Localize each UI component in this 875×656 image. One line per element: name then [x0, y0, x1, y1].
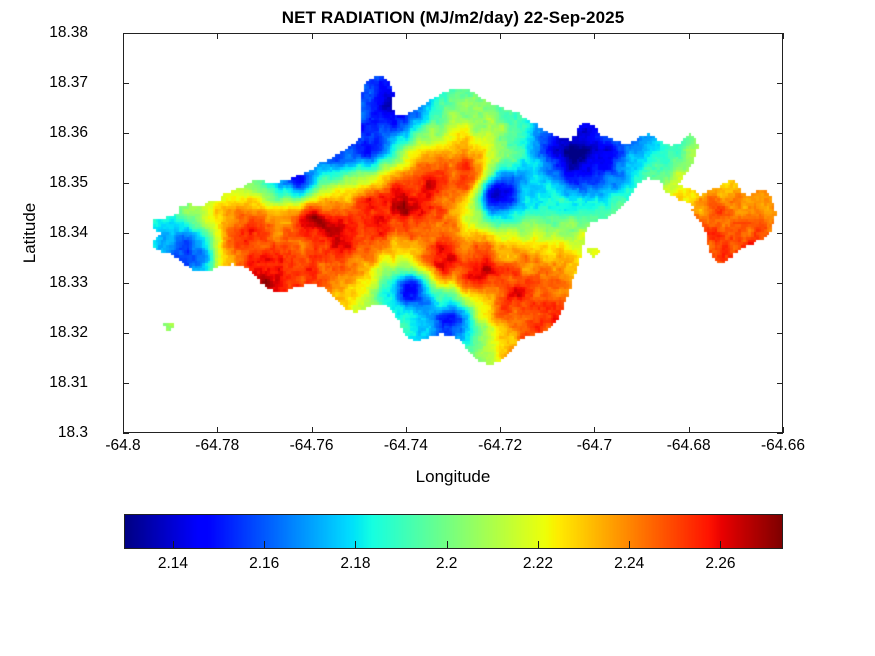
- y-tick-label: 18.36: [49, 124, 88, 142]
- y-tick: [777, 133, 783, 134]
- x-tick: [217, 427, 218, 433]
- x-tick: [406, 427, 407, 433]
- y-tick: [123, 433, 129, 434]
- x-tick: [312, 33, 313, 39]
- x-tick: [689, 427, 690, 433]
- y-tick-label: 18.31: [49, 374, 88, 392]
- x-tick: [594, 33, 595, 39]
- x-axis-title: Longitude: [123, 467, 783, 487]
- y-tick: [123, 233, 129, 234]
- x-tick: [500, 33, 501, 39]
- colorbar-tick-label: 2.24: [614, 555, 644, 573]
- figure-net-radiation-map: NET RADIATION (MJ/m2/day) 22-Sep-2025 -6…: [0, 0, 875, 656]
- x-tick-label: -64.66: [761, 437, 805, 455]
- y-tick: [123, 333, 129, 334]
- y-tick: [123, 133, 129, 134]
- x-tick-label: -64.72: [478, 437, 522, 455]
- y-tick: [123, 83, 129, 84]
- map-axes: [123, 33, 783, 433]
- y-tick: [777, 283, 783, 284]
- x-tick: [217, 33, 218, 39]
- colorbar-tick-label: 2.2: [436, 555, 458, 573]
- colorbar-tick-label: 2.22: [523, 555, 553, 573]
- y-tick: [777, 33, 783, 34]
- y-axis-title: Latitude: [20, 203, 40, 264]
- y-axis-title-wrap: Latitude: [30, 0, 31, 466]
- x-tick: [406, 33, 407, 39]
- colorbar-tick-label: 2.14: [158, 555, 188, 573]
- x-tick: [783, 33, 784, 39]
- x-tick-label: -64.8: [105, 437, 140, 455]
- y-tick-label: 18.38: [49, 24, 88, 42]
- y-tick-label: 18.32: [49, 324, 88, 342]
- x-tick: [312, 427, 313, 433]
- colorbar-gradient: [125, 515, 782, 548]
- colorbar-tick-label: 2.26: [705, 555, 735, 573]
- colorbar-tick-label: 2.16: [249, 555, 279, 573]
- y-tick: [123, 33, 129, 34]
- y-tick: [777, 333, 783, 334]
- y-tick-label: 18.33: [49, 274, 88, 292]
- y-tick-label: 18.35: [49, 174, 88, 192]
- y-tick-label: 18.3: [58, 424, 88, 442]
- x-tick: [500, 427, 501, 433]
- colorbar-tick: [355, 541, 356, 548]
- y-tick-label: 18.34: [49, 224, 88, 242]
- x-tick-label: -64.76: [290, 437, 334, 455]
- y-tick: [777, 433, 783, 434]
- colorbar-tick: [720, 541, 721, 548]
- x-tick-label: -64.78: [195, 437, 239, 455]
- heatmap-raster: [124, 34, 784, 434]
- page-title: NET RADIATION (MJ/m2/day) 22-Sep-2025: [123, 8, 783, 28]
- y-tick: [123, 383, 129, 384]
- colorbar-tick: [629, 541, 630, 548]
- x-tick: [783, 427, 784, 433]
- x-tick-label: -64.7: [577, 437, 612, 455]
- y-tick: [777, 233, 783, 234]
- y-tick: [777, 383, 783, 384]
- y-tick-label: 18.37: [49, 74, 88, 92]
- colorbar-tick: [173, 541, 174, 548]
- y-tick: [777, 83, 783, 84]
- colorbar-tick-label: 2.18: [340, 555, 370, 573]
- colorbar-tick: [447, 541, 448, 548]
- colorbar-tick: [538, 541, 539, 548]
- x-tick-label: -64.68: [667, 437, 711, 455]
- y-tick: [123, 183, 129, 184]
- x-tick: [594, 427, 595, 433]
- x-tick-label: -64.74: [384, 437, 428, 455]
- colorbar-tick: [264, 541, 265, 548]
- y-tick: [777, 183, 783, 184]
- y-tick: [123, 283, 129, 284]
- x-tick: [689, 33, 690, 39]
- colorbar: [124, 514, 783, 549]
